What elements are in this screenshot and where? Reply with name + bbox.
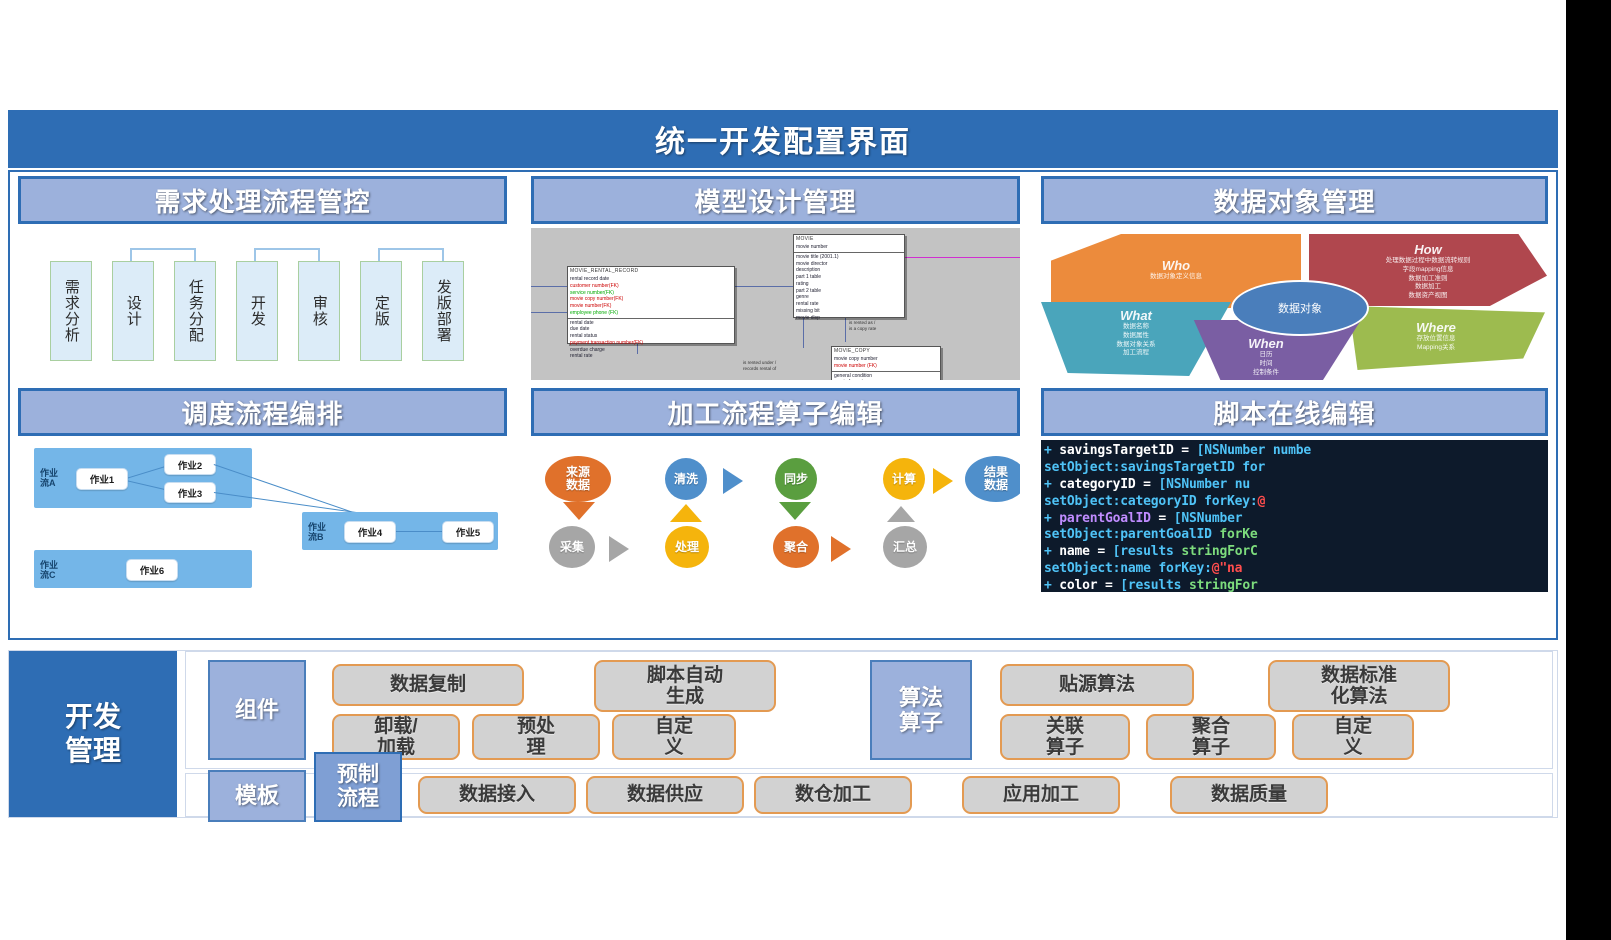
diagram-frame: 统一开发配置界面 需求处理流程管控 需求分析 设计 任务分配 开发 审核 定 bbox=[8, 110, 1558, 820]
operator-node-summary[interactable]: 汇总 bbox=[883, 526, 927, 568]
pie-slice-sub: 存放位置信息 Mapping关系 bbox=[1327, 335, 1545, 353]
operator-node-process[interactable]: 处理 bbox=[665, 526, 709, 568]
arrow-up-icon bbox=[887, 506, 915, 522]
section-header-requirement-label: 需求处理流程管控 bbox=[154, 182, 370, 219]
chip-custom-operator[interactable]: 自定 义 bbox=[1292, 714, 1414, 760]
code-line: + name = [results stringForC bbox=[1044, 544, 1548, 561]
section-header-script[interactable]: 脚本在线编辑 bbox=[1041, 388, 1548, 436]
section-header-model-label: 模型设计管理 bbox=[694, 182, 856, 219]
page-title-text: 统一开发配置界面 bbox=[655, 117, 911, 161]
pie-chart: Who 数据对象定义信息 What 数据名称 数据属性 数据对象关系 加工流程 … bbox=[1041, 228, 1548, 380]
flow-step[interactable]: 开发 bbox=[236, 261, 278, 361]
er-field: rental status bbox=[570, 333, 732, 340]
pie-slice-sub: 数据对象定义信息 bbox=[1051, 273, 1301, 282]
flow-step[interactable]: 需求分析 bbox=[50, 261, 92, 361]
chip-join-operator[interactable]: 关联 算子 bbox=[1000, 714, 1130, 760]
er-field: movie copy number bbox=[834, 356, 938, 363]
er-link bbox=[531, 312, 567, 313]
operator-node-clean[interactable]: 清洗 bbox=[665, 458, 707, 500]
er-field: description bbox=[796, 267, 902, 274]
code-line: setObject:name forKey:@"na bbox=[1044, 561, 1548, 578]
operator-node-aggregate[interactable]: 聚合 bbox=[773, 526, 819, 568]
arrow-right-icon bbox=[831, 536, 851, 562]
er-field: movie director bbox=[796, 261, 902, 268]
er-field: rental rate bbox=[570, 353, 732, 360]
section-header-model[interactable]: 模型设计管理 bbox=[531, 176, 1020, 224]
er-field: movie format bbox=[834, 379, 938, 380]
er-entity[interactable]: MOVIE movie number movie title (2001.1) … bbox=[793, 234, 905, 318]
er-field: movie number bbox=[796, 244, 902, 251]
er-entity-name: MOVIE bbox=[794, 235, 904, 243]
code-editor[interactable]: + savingsTargetID = [NSNumber numbesetOb… bbox=[1041, 440, 1548, 592]
arrow-up-icon bbox=[670, 504, 702, 522]
flow-step[interactable]: 发版部署 bbox=[422, 261, 464, 361]
chip-custom-component[interactable]: 自定 义 bbox=[612, 714, 736, 760]
job-node[interactable]: 作业3 bbox=[164, 482, 216, 503]
section-header-script-label: 脚本在线编辑 bbox=[1213, 394, 1375, 431]
operator-node-source[interactable]: 来源 数据 bbox=[545, 456, 611, 502]
arrow-right-icon bbox=[723, 468, 743, 494]
er-field: general condition bbox=[834, 373, 938, 380]
section-header-requirement[interactable]: 需求处理流程管控 bbox=[18, 176, 507, 224]
er-field: payment transaction number(FK) bbox=[570, 340, 732, 347]
code-line: + savingsTargetID = [NSNumber numbe bbox=[1044, 443, 1548, 460]
job-flow-label-b: 作业 流B bbox=[308, 522, 326, 543]
er-field: movie number(FK) bbox=[570, 303, 732, 310]
er-relation-label: is rented under / records rental of bbox=[743, 360, 776, 372]
chip-aggregate-operator[interactable]: 聚合 算子 bbox=[1146, 714, 1276, 760]
dev-band-templates: 模板 预制 流程 数据接入 数据供应 数仓加工 应用加工 数据质量 bbox=[185, 773, 1553, 817]
job-flow-canvas: 作业 流A 作业1 作业2 作业3 作业 流B 作业4 作业5 作业 流C 作业 bbox=[18, 440, 507, 592]
er-field: employee phone (FK) bbox=[570, 310, 732, 317]
dev-management-section: 开发 管理 组件 数据复制 脚本自动 生成 卸载/ 加载 预处 理 自定 义 算… bbox=[8, 650, 1558, 818]
code-line: setObject:savingsTargetID for bbox=[1044, 460, 1548, 477]
er-field: movie number (FK) bbox=[834, 363, 938, 370]
job-node[interactable]: 作业1 bbox=[76, 468, 128, 490]
code-line: + categoryID = [NSNumber nu bbox=[1044, 477, 1548, 494]
er-background: MOVIE_RENTAL_RECORD rental record date c… bbox=[531, 228, 1020, 380]
er-field: overdue charge bbox=[570, 347, 732, 354]
section-header-schedule[interactable]: 调度流程编排 bbox=[18, 388, 507, 436]
section-header-dataobject-label: 数据对象管理 bbox=[1213, 182, 1375, 219]
dev-management-body: 组件 数据复制 脚本自动 生成 卸载/ 加载 预处 理 自定 义 算法 算子 贴… bbox=[185, 651, 1557, 817]
er-entity-fields: rental date due date rental status payme… bbox=[568, 319, 734, 362]
er-field: rental record date bbox=[570, 276, 732, 283]
er-field: genre bbox=[796, 294, 902, 301]
chip-warehouse-processing[interactable]: 数仓加工 bbox=[754, 776, 912, 814]
category-algorithm-operators[interactable]: 算法 算子 bbox=[870, 660, 972, 760]
er-diagram-canvas: MOVIE_RENTAL_RECORD rental record date c… bbox=[531, 228, 1020, 380]
pie-slice-label: Who bbox=[1051, 258, 1301, 273]
er-relation-label: is rented as / is a copy rate bbox=[849, 320, 876, 332]
er-field: rating bbox=[796, 281, 902, 288]
operator-node-result[interactable]: 结果 数据 bbox=[965, 456, 1020, 502]
er-entity-name: MOVIE_COPY bbox=[832, 347, 940, 355]
er-field: due date bbox=[570, 326, 732, 333]
right-black-strip bbox=[1566, 0, 1611, 940]
code-line: + parentGoalID = [NSNumber bbox=[1044, 511, 1548, 528]
er-field: customer number(FK) bbox=[570, 283, 732, 290]
flow-step[interactable]: 任务分配 bbox=[174, 261, 216, 361]
er-entity-fields: movie title (2001.1) movie director desc… bbox=[794, 253, 904, 323]
er-entity-keys: rental record date customer number(FK) s… bbox=[568, 275, 734, 319]
section-header-operator-label: 加工流程算子编辑 bbox=[667, 394, 883, 431]
job-node[interactable]: 作业4 bbox=[344, 521, 396, 543]
operator-flow-canvas: 来源 数据 清洗 同步 计算 结果 数据 采集 处理 聚合 汇总 bbox=[531, 440, 1020, 592]
panel-grid: 需求处理流程管控 需求分析 设计 任务分配 开发 审核 定版 发版部署 bbox=[8, 170, 1558, 640]
chip-script-autogen[interactable]: 脚本自动 生成 bbox=[594, 660, 776, 712]
er-field: part 1 table bbox=[796, 274, 902, 281]
arrow-down-icon bbox=[563, 502, 595, 520]
chip-data-supply[interactable]: 数据供应 bbox=[586, 776, 744, 814]
code-line: setObject:categoryID forKey:@ bbox=[1044, 494, 1548, 511]
section-header-schedule-label: 调度流程编排 bbox=[181, 394, 343, 431]
job-edge bbox=[394, 531, 444, 532]
category-components[interactable]: 组件 bbox=[208, 660, 306, 760]
panel-row-2: 调度流程编排 作业 流A 作业1 作业2 作业3 作业 流B 作业4 bbox=[10, 388, 1556, 636]
job-flow-label-a: 作业 流A bbox=[40, 468, 58, 489]
pie-slice-label: How bbox=[1309, 242, 1547, 257]
flow-step[interactable]: 审核 bbox=[298, 261, 340, 361]
dev-management-label: 开发 管理 bbox=[9, 651, 177, 817]
category-preset-flow[interactable]: 预制 流程 bbox=[314, 752, 402, 822]
chip-data-ingest[interactable]: 数据接入 bbox=[418, 776, 576, 814]
chip-source-algorithm[interactable]: 贴源算法 bbox=[1000, 664, 1194, 706]
pie-slice-label: Where bbox=[1327, 320, 1545, 335]
flow-step[interactable]: 定版 bbox=[360, 261, 402, 361]
job-flow-group-a[interactable] bbox=[34, 448, 252, 508]
job-node[interactable]: 作业5 bbox=[442, 521, 494, 543]
operator-node-sync[interactable]: 同步 bbox=[775, 458, 817, 500]
operator-node-compute[interactable]: 计算 bbox=[883, 458, 925, 500]
chip-data-replication[interactable]: 数据复制 bbox=[332, 664, 524, 706]
job-node[interactable]: 作业6 bbox=[126, 559, 178, 581]
job-node[interactable]: 作业2 bbox=[164, 454, 216, 475]
arrow-down-icon bbox=[779, 502, 811, 520]
code-line: setObject:parentGoalID forKe bbox=[1044, 527, 1548, 544]
er-link-highlight bbox=[891, 257, 1020, 258]
code-line: + color = [results stringFor bbox=[1044, 578, 1548, 592]
er-field: service number(FK) bbox=[570, 290, 732, 297]
er-link bbox=[531, 286, 567, 287]
er-field: movie copy number(FK) bbox=[570, 296, 732, 303]
pie-center-label: 数据对象 bbox=[1231, 280, 1369, 336]
code-editor-canvas: + savingsTargetID = [NSNumber numbesetOb… bbox=[1041, 440, 1548, 592]
arrow-right-icon bbox=[609, 536, 629, 562]
chip-preprocess[interactable]: 预处 理 bbox=[472, 714, 600, 760]
page-title: 统一开发配置界面 bbox=[8, 110, 1558, 168]
er-entity-keys: movie number bbox=[794, 243, 904, 253]
er-entity-fields: general condition movie format bbox=[832, 372, 940, 381]
job-flow-label-c: 作业 流C bbox=[40, 560, 58, 581]
er-field: movie title (2001.1) bbox=[796, 254, 902, 261]
er-entity[interactable]: MOVIE_COPY movie copy number movie numbe… bbox=[831, 346, 941, 380]
er-entity[interactable]: MOVIE_RENTAL_RECORD rental record date c… bbox=[567, 266, 735, 344]
chip-data-quality[interactable]: 数据质量 bbox=[1170, 776, 1328, 814]
er-field: rental rate bbox=[796, 301, 902, 308]
er-entity-name: MOVIE_RENTAL_RECORD bbox=[568, 267, 734, 275]
chip-application-processing[interactable]: 应用加工 bbox=[962, 776, 1120, 814]
section-header-operator[interactable]: 加工流程算子编辑 bbox=[531, 388, 1020, 436]
operator-node-collect[interactable]: 采集 bbox=[549, 526, 595, 568]
data-object-pie-canvas: Who 数据对象定义信息 What 数据名称 数据属性 数据对象关系 加工流程 … bbox=[1041, 228, 1548, 380]
arrow-right-icon bbox=[933, 468, 953, 494]
er-field: missing bit bbox=[796, 308, 902, 315]
er-field: rental date bbox=[570, 320, 732, 327]
er-entity-keys: movie copy number movie number (FK) bbox=[832, 355, 940, 372]
flow-step[interactable]: 设计 bbox=[112, 261, 154, 361]
requirement-flow-canvas: 需求分析 设计 任务分配 开发 审核 定版 发版部署 bbox=[18, 228, 507, 380]
section-header-dataobject[interactable]: 数据对象管理 bbox=[1041, 176, 1548, 224]
er-field: part 2 table bbox=[796, 288, 902, 295]
category-template[interactable]: 模板 bbox=[208, 770, 306, 822]
chip-standardization-algorithm[interactable]: 数据标准 化算法 bbox=[1268, 660, 1450, 712]
